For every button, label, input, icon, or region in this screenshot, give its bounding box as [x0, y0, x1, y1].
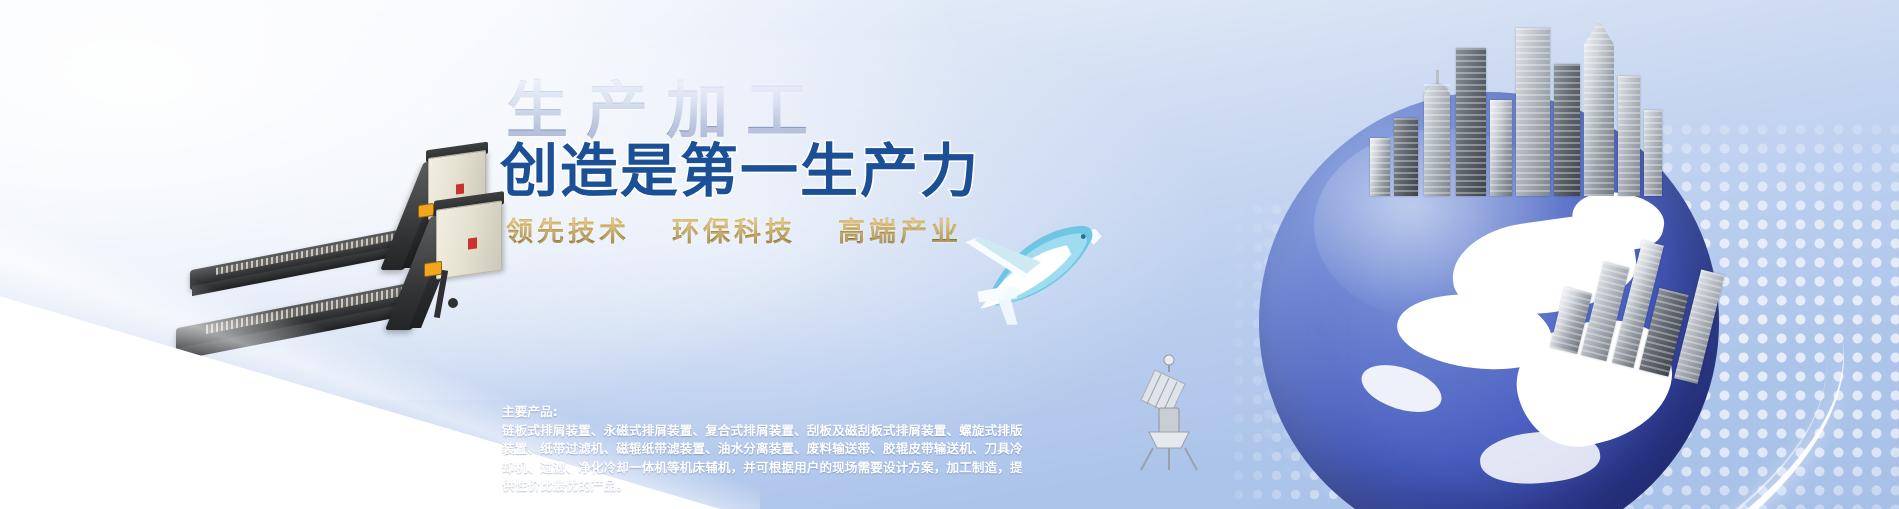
building [1554, 64, 1580, 196]
products-description: 主要产品: 链板式排屑装置、永磁式排屑装置、复合式排屑装置、刮板及磁刮板式排屑装… [502, 403, 1202, 496]
products-label: 主要产品: [502, 403, 1202, 422]
page-title: 生产加工 [506, 78, 1450, 144]
continent-shape [1356, 356, 1448, 421]
tagline-item-2: 环保科技 [672, 210, 796, 249]
page-subtitle: 创造是第一生产力 [500, 140, 1450, 204]
tagline-item-1: 领先技术 [506, 210, 630, 249]
building [1644, 110, 1662, 196]
products-line: 链板式排屑装置、永磁式排屑装置、复合式排屑装置、刮板及磁刮板式排屑装置、螺旋式排… [502, 422, 1202, 441]
building [1456, 48, 1486, 196]
building [1490, 100, 1512, 196]
tagline-row: 领先技术 环保科技 高端产业 [500, 210, 1450, 249]
products-line: 供性价比最优的产品。 [502, 477, 1202, 496]
tagline-item-3: 高端产业 [838, 210, 962, 249]
building [1674, 269, 1724, 383]
promo-banner: 生产加工 创造是第一生产力 领先技术 环保科技 高端产业 主要产品: 链板式排屑… [0, 0, 1899, 509]
chip-conveyor-machine-front [176, 200, 506, 390]
building [1584, 20, 1614, 196]
products-line: 装置、纸带过滤机、磁辊纸带滤装置、油水分离装置、废料输送带、胶辊皮带输送机、刀具… [502, 440, 1202, 459]
products-line: 却机、过滤、净化冷却一体机等机床辅机，并可根据用户的现场需要设计方案，加工制造，… [502, 459, 1202, 478]
headline-block: 生产加工 创造是第一生产力 领先技术 环保科技 高端产业 [500, 78, 1450, 249]
building [1618, 76, 1640, 196]
building [1516, 28, 1550, 196]
